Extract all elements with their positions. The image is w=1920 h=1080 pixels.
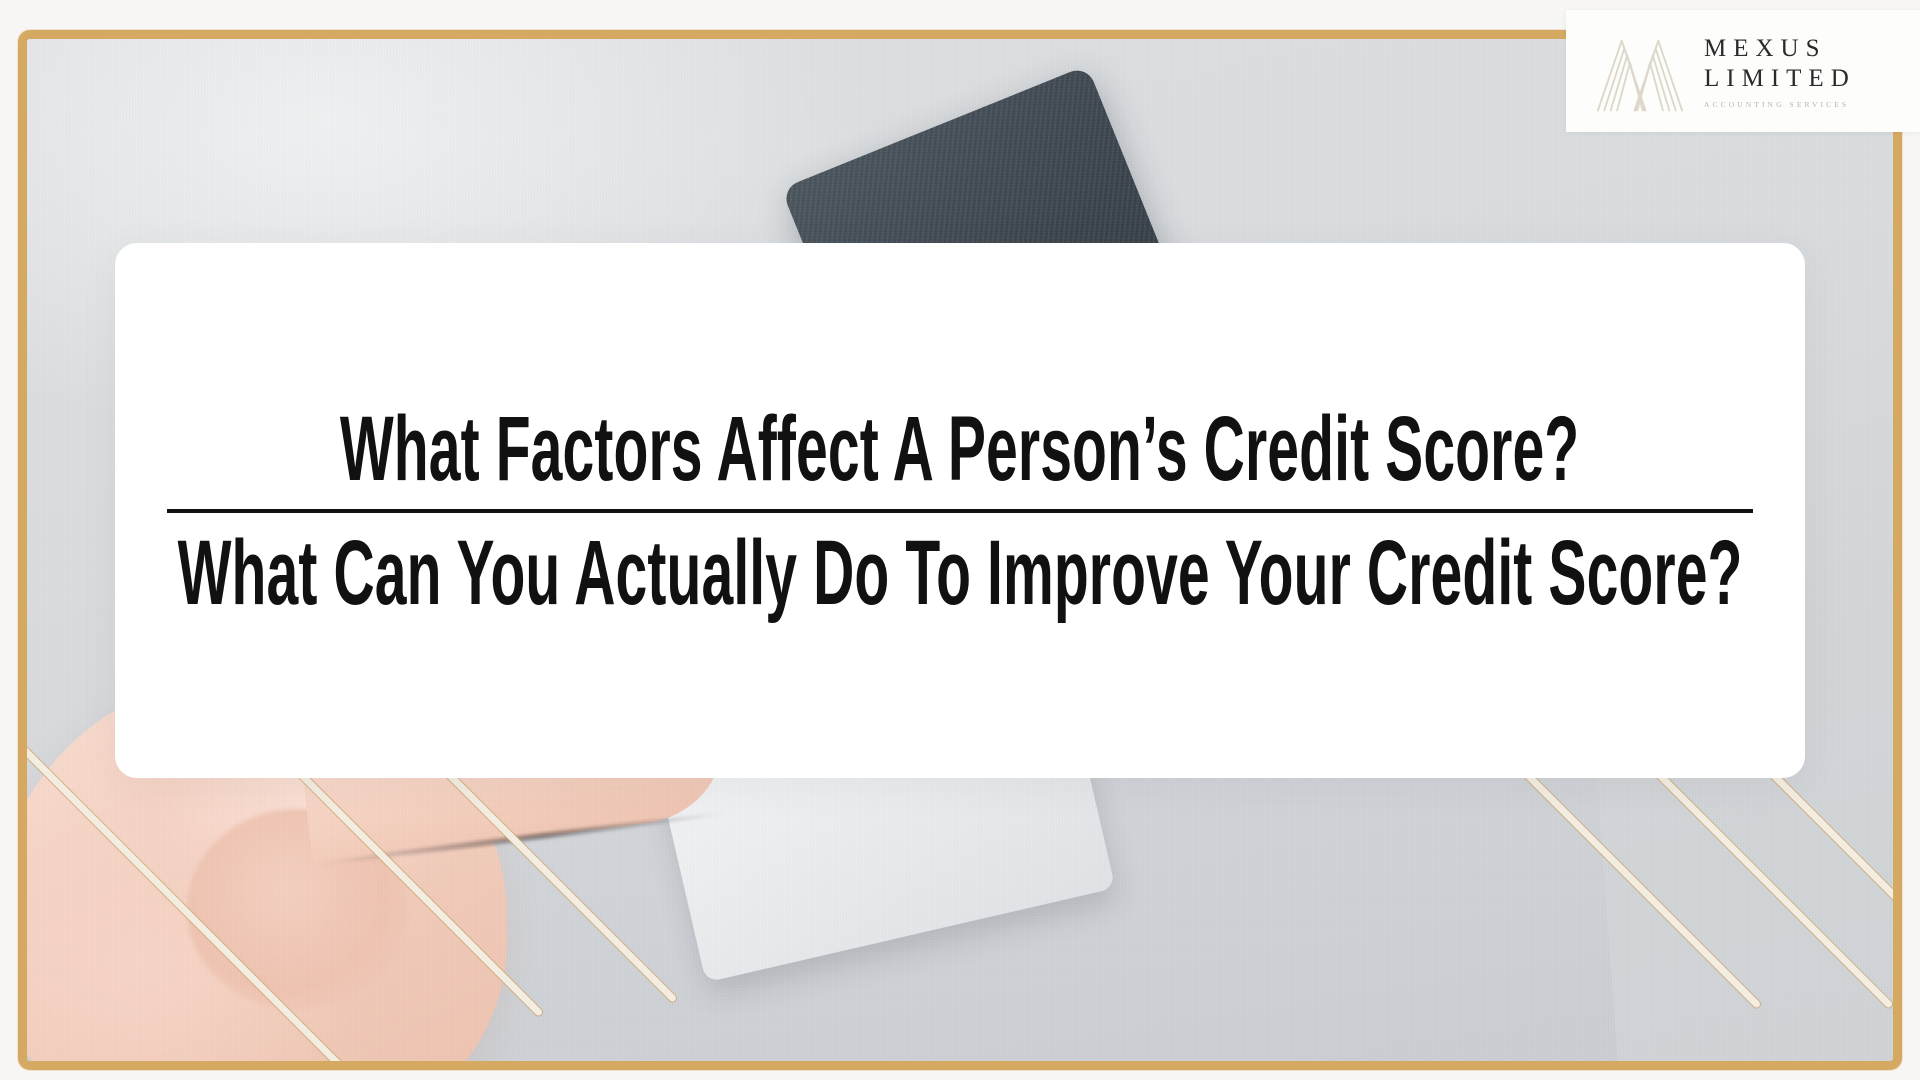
- logo-word-line-1: MEXUS: [1704, 34, 1856, 65]
- headline-inner: What Factors Affect A Person’s Credit Sc…: [165, 403, 1755, 619]
- chevron-mountain-mark-icon: [1594, 28, 1686, 114]
- logo-word-line-2: LIMITED: [1704, 64, 1856, 95]
- hand-knuckle-shading: [187, 809, 407, 1009]
- headline-line-2: What Can You Actually Do To Improve Your…: [178, 527, 1743, 619]
- logo-badge[interactable]: MEXUS LIMITED ACCOUNTING SERVICES: [1566, 10, 1920, 132]
- headline-line-1: What Factors Affect A Person’s Credit Sc…: [340, 403, 1579, 495]
- logo-tagline: ACCOUNTING SERVICES: [1704, 100, 1856, 109]
- headline-divider-rule: [167, 509, 1753, 513]
- logo-wordmark: MEXUS LIMITED ACCOUNTING SERVICES: [1704, 34, 1856, 109]
- banner-stage: What Factors Affect A Person’s Credit Sc…: [0, 0, 1920, 1080]
- headline-card: What Factors Affect A Person’s Credit Sc…: [115, 243, 1805, 778]
